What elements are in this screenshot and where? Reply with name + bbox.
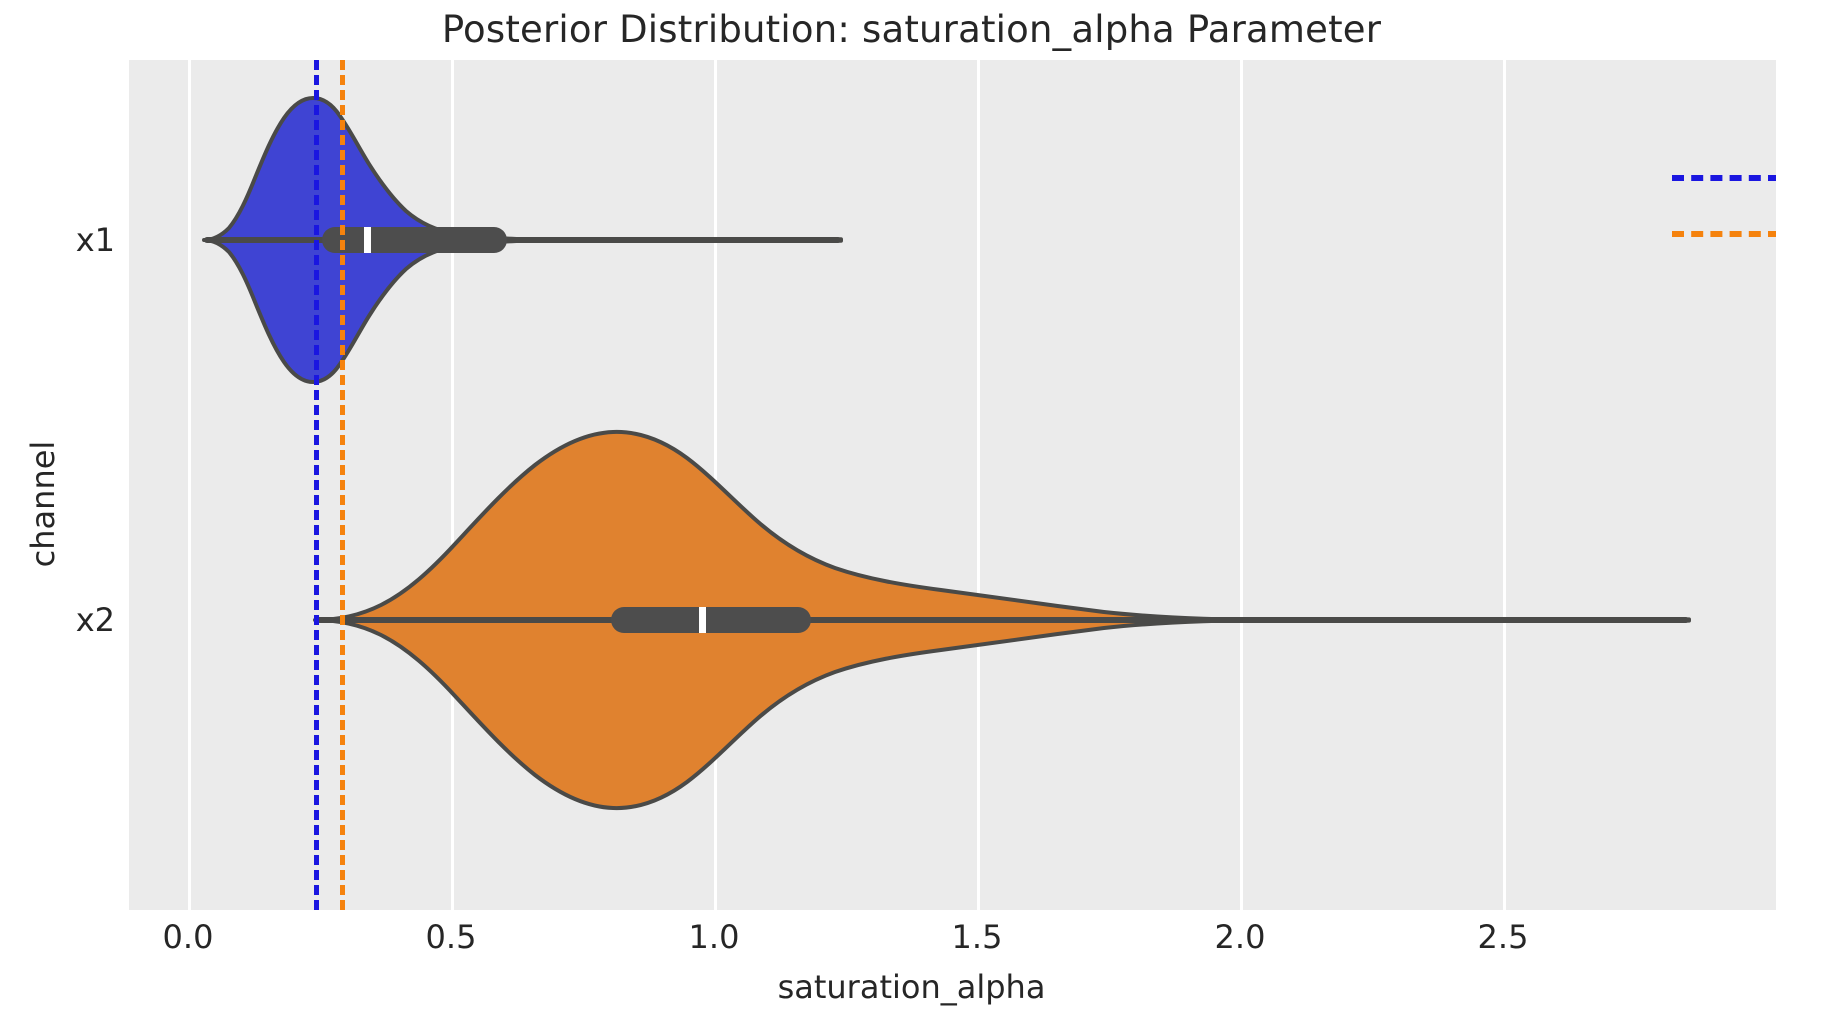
legend-swatch-dashed-blue-icon	[1672, 175, 1776, 181]
yaxis-label: channel	[24, 354, 62, 654]
legend-item-alpha2: α2	[1672, 206, 1776, 262]
reference-line-alpha2	[340, 60, 345, 910]
chart-figure: Posterior Distribution: saturation_alpha…	[0, 0, 1823, 1023]
xtick-label-4: 2.0	[1215, 918, 1266, 956]
xtick-label-3: 1.5	[952, 918, 1003, 956]
iqr-box-x1	[322, 227, 507, 253]
plot-area: α1 α2	[129, 60, 1776, 910]
median-marker-x2	[699, 607, 706, 633]
iqr-box-x2	[611, 607, 811, 633]
chart-title: Posterior Distribution: saturation_alpha…	[0, 8, 1823, 51]
violin-x1	[204, 98, 841, 382]
legend-item-alpha1: α1	[1672, 150, 1776, 206]
xaxis-label: saturation_alpha	[0, 968, 1823, 1006]
violin-x2	[315, 432, 1689, 808]
xtick-label-5: 2.5	[1478, 918, 1529, 956]
whisker-x1	[204, 237, 841, 243]
legend-swatch-dashed-orange-icon	[1672, 231, 1776, 237]
xtick-label-2: 1.0	[689, 918, 740, 956]
whisker-x2	[315, 617, 1689, 623]
median-marker-x1	[364, 227, 371, 253]
ytick-label-x2: x2	[76, 601, 115, 639]
xtick-label-0: 0.0	[163, 918, 214, 956]
xtick-label-1: 0.5	[426, 918, 477, 956]
ytick-label-x1: x1	[76, 221, 115, 259]
reference-line-alpha1	[314, 60, 319, 910]
violin-plots	[129, 60, 1776, 910]
chart-legend: α1 α2	[1672, 144, 1776, 268]
